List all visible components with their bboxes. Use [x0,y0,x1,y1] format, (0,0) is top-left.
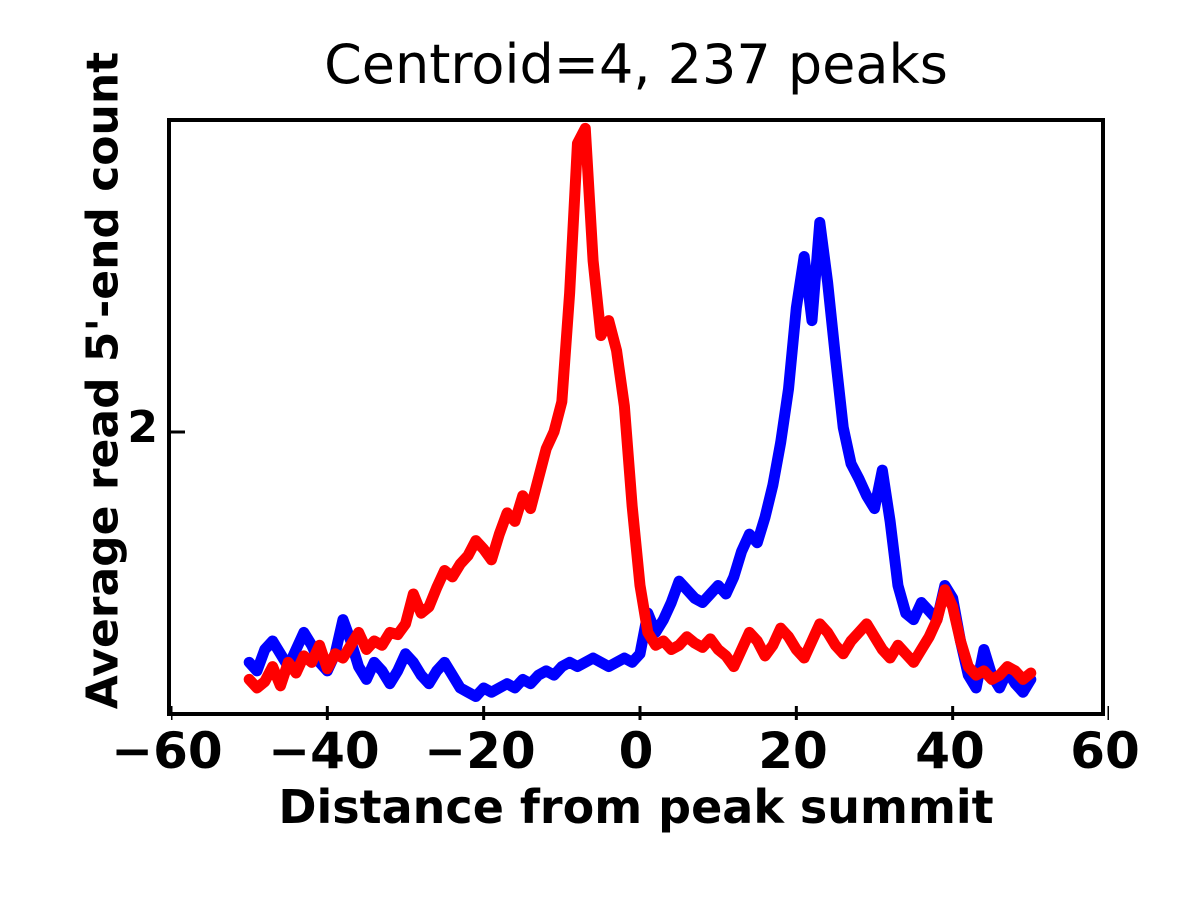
y-axis-label: Average read 5'-end count [78,31,129,731]
chart-figure: Centroid=4, 237 peaks Average read 5'-en… [0,0,1200,900]
x-axis-tick-marks [171,706,1109,720]
x-axis-label: Distance from peak summit [167,780,1105,834]
plot-canvas [171,122,1109,720]
chart-title: Centroid=4, 237 peaks [167,38,1105,92]
x-axis-tick-label: −40 [244,722,404,780]
x-axis-tick-label: 60 [1025,722,1185,780]
series-line-forward-strand [249,128,1031,688]
series-line-reverse-strand [249,222,1031,696]
x-axis-tick-label: 20 [713,722,873,780]
x-axis-tick-label: 40 [870,722,1030,780]
x-axis-tick-label: −60 [87,722,247,780]
plot-area [167,118,1105,716]
y-axis-tick-label: 2 [116,402,158,453]
x-axis-tick-label: 0 [556,722,716,780]
x-axis-tick-label: −20 [400,722,560,780]
